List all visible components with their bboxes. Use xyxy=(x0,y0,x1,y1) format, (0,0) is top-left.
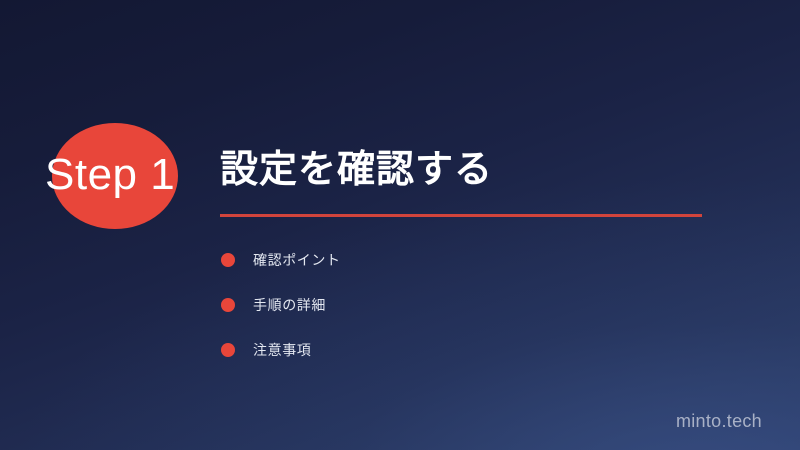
list-item-label: 手順の詳細 xyxy=(253,295,326,315)
step-number-label: Step 1 xyxy=(45,146,175,204)
list-item-label: 確認ポイント xyxy=(253,250,341,270)
watermark-brand: minto.tech xyxy=(676,411,762,432)
slide-title: 設定を確認する xyxy=(220,144,720,196)
list-item: 手順の詳細 xyxy=(220,282,720,327)
slide-canvas: Step 1 設定を確認する 確認ポイント 手順の詳細 注意事項 minto.t… xyxy=(0,0,800,450)
list-item: 注意事項 xyxy=(220,327,720,372)
title-underline-rule xyxy=(220,214,702,217)
bullet-dot-icon xyxy=(221,343,235,357)
bullet-dot-icon xyxy=(221,298,235,312)
bullet-list: 確認ポイント 手順の詳細 注意事項 xyxy=(220,237,720,372)
slide-content-column: 設定を確認する 確認ポイント 手順の詳細 注意事項 xyxy=(220,144,720,372)
list-item-label: 注意事項 xyxy=(253,340,311,360)
list-item: 確認ポイント xyxy=(220,237,720,282)
bullet-dot-icon xyxy=(221,253,235,267)
